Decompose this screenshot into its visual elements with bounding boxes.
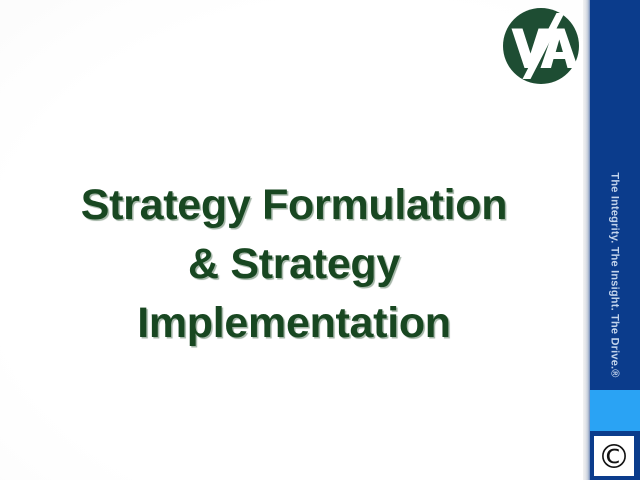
title-line-1: Strategy Formulation xyxy=(18,176,570,235)
va-logo xyxy=(502,7,580,85)
page-title: Strategy Formulation & Strategy Implemen… xyxy=(18,176,570,353)
presentation-slide: Strategy Formulation & Strategy Implemen… xyxy=(0,0,640,480)
sidebar-band-light-accent xyxy=(590,390,640,431)
sidebar-band-dark-top xyxy=(590,0,640,390)
title-line-2: & Strategy xyxy=(18,235,570,294)
copyright-badge: © xyxy=(594,436,634,476)
title-line-3: Implementation xyxy=(18,294,570,353)
copyright-icon: © xyxy=(598,440,631,473)
brand-sidebar xyxy=(590,0,640,480)
panel-seam-divider xyxy=(583,0,590,480)
